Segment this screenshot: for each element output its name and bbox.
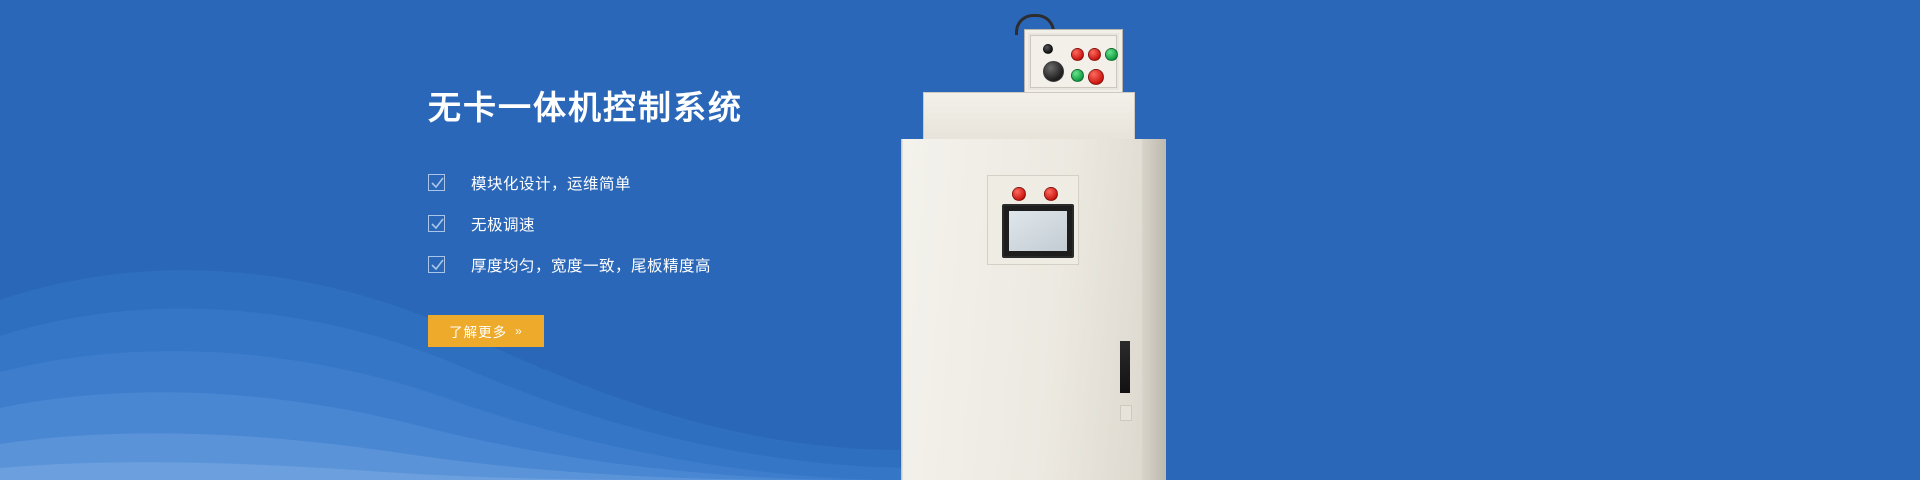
cabinet-top-slab <box>923 92 1135 141</box>
cabinet-vent-slot <box>1120 341 1130 393</box>
chevron-right-icon: » <box>515 324 523 338</box>
hero-banner: 无卡一体机控制系统 模块化设计，运维简单 无极调速 <box>0 0 1920 480</box>
learn-more-button[interactable]: 了解更多 » <box>428 315 544 347</box>
top-control-box <box>1024 29 1123 94</box>
control-cabinet <box>901 139 1166 480</box>
indicator-lamp-black <box>1043 44 1053 54</box>
learn-more-label: 了解更多 <box>449 321 507 341</box>
hmi-screen <box>1009 211 1067 251</box>
cabinet-latch <box>1120 405 1132 421</box>
checkbox-check-icon <box>428 256 445 273</box>
hmi-lamp-red <box>1012 187 1026 201</box>
touchscreen-hmi <box>1002 204 1074 258</box>
product-image <box>898 0 1198 480</box>
feature-label: 无极调速 <box>471 213 535 235</box>
cabinet-side-edge <box>1142 139 1166 480</box>
control-box-face <box>1030 35 1117 88</box>
selector-knob <box>1043 61 1064 82</box>
cabinet-door-seam <box>902 139 903 480</box>
indicator-lamp-red <box>1088 69 1104 85</box>
indicator-lamp-red <box>1071 48 1084 61</box>
hmi-lamp-red <box>1044 187 1058 201</box>
feature-label: 厚度均匀，宽度一致，尾板精度高 <box>471 254 711 276</box>
indicator-lamp-green <box>1071 69 1084 82</box>
indicator-lamp-green <box>1105 48 1118 61</box>
feature-label: 模块化设计，运维简单 <box>471 172 631 194</box>
indicator-lamp-red <box>1088 48 1101 61</box>
checkbox-check-icon <box>428 215 445 232</box>
checkbox-check-icon <box>428 174 445 191</box>
